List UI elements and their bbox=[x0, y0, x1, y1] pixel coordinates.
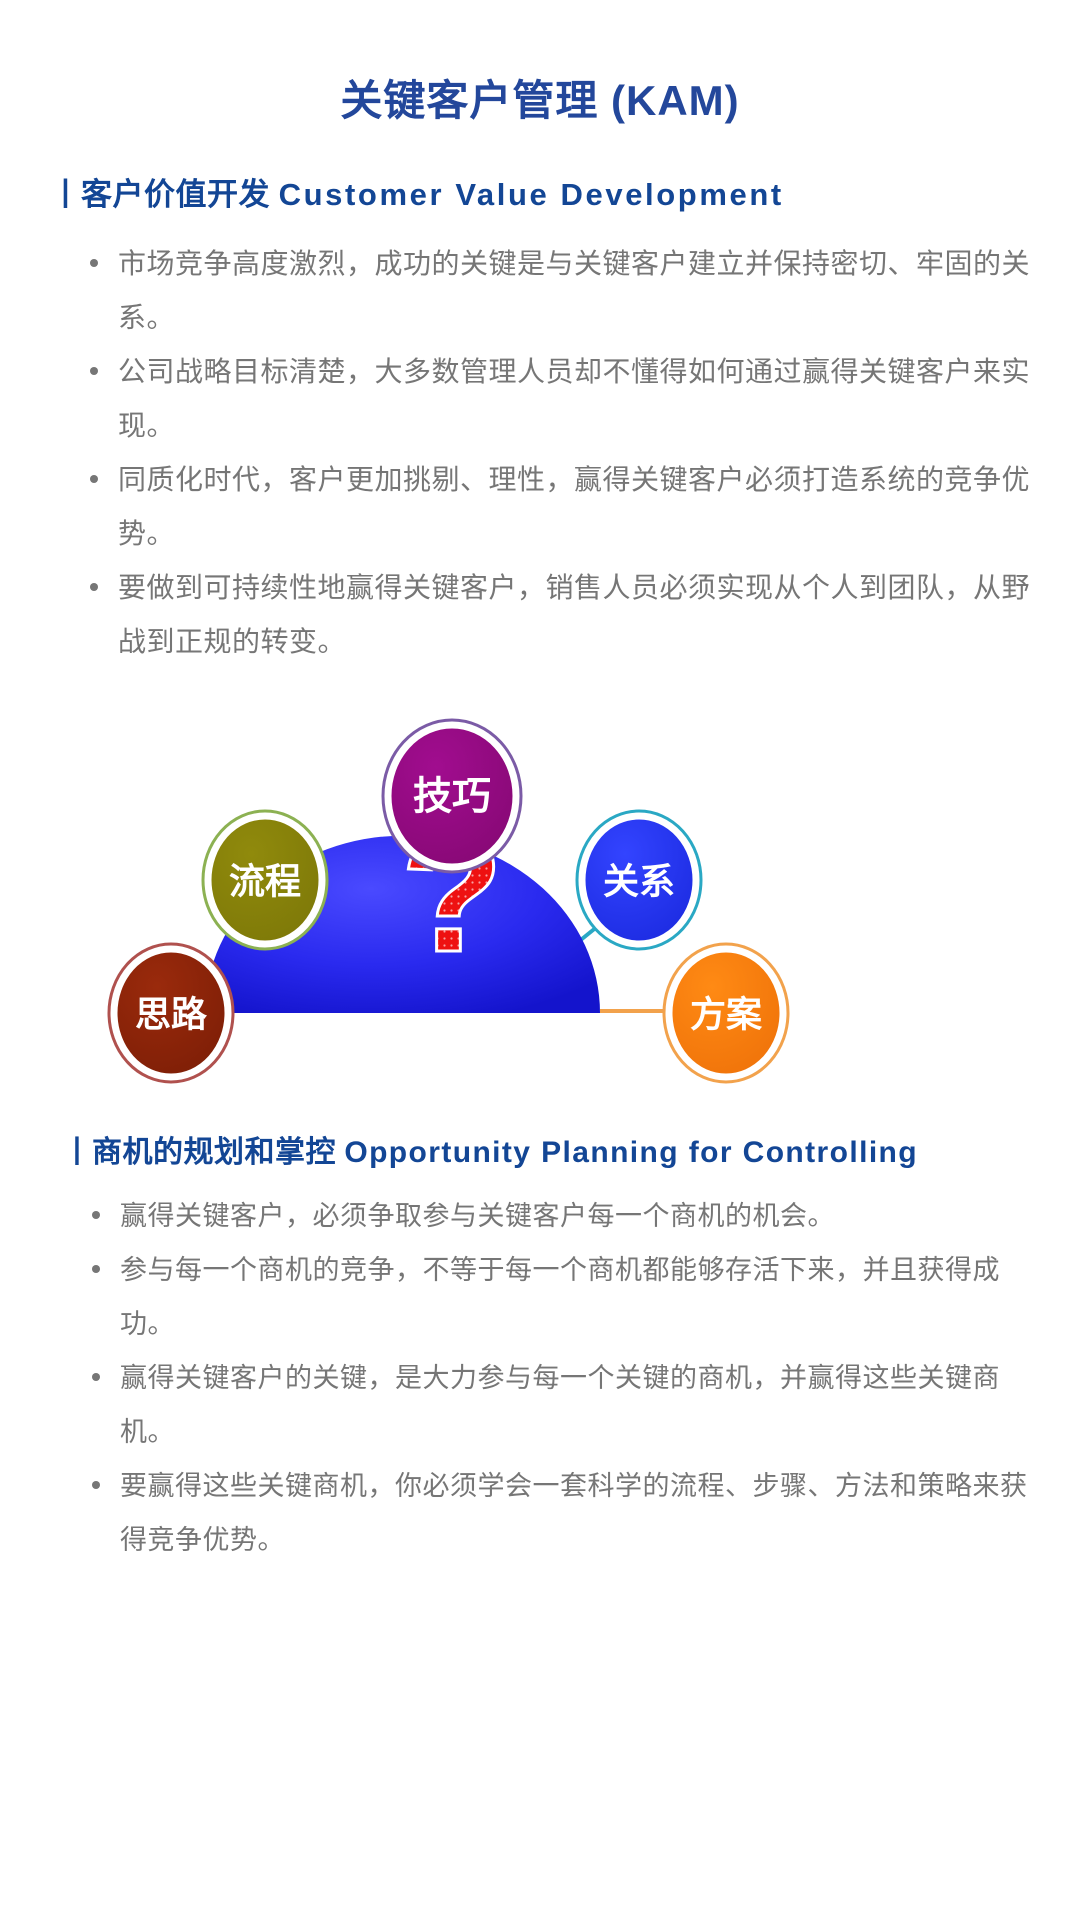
list-item-text: 赢得关键客户，必须争取参与关键客户每一个商机的机会。 bbox=[120, 1201, 835, 1231]
bullet-list-opportunity-planning: 赢得关键客户，必须争取参与关键客户每一个商机的机会。 参与每一个商机的竞争，不等… bbox=[0, 1189, 1080, 1567]
diagram-node-label: 方案 bbox=[690, 994, 763, 1035]
diagram-node-relation[interactable]: 关系 bbox=[577, 811, 701, 949]
section-heading-opportunity-planning: 丨商机的规划和掌控 Opportunity Planning for Contr… bbox=[0, 1135, 1080, 1171]
diagram-node-thought[interactable]: 思路 bbox=[109, 944, 233, 1082]
list-item: 市场竞争高度激烈，成功的关键是与关键客户建立并保持密切、牢固的关系。 bbox=[88, 237, 1030, 345]
concept-diagram: ? 技巧 流程 关系 bbox=[0, 711, 1080, 1091]
list-item: 要赢得这些关键商机，你必须学会一套科学的流程、步骤、方法和策略来获得竞争优势。 bbox=[90, 1459, 1030, 1567]
bullet-dot-icon bbox=[92, 1373, 100, 1381]
list-item: 公司战略目标清楚，大多数管理人员却不懂得如何通过赢得关键客户来实现。 bbox=[88, 345, 1030, 453]
diagram-node-plan[interactable]: 方案 bbox=[664, 944, 788, 1082]
list-item-text: 市场竞争高度激烈，成功的关键是与关键客户建立并保持密切、牢固的关系。 bbox=[118, 248, 1030, 333]
list-item-text: 要赢得这些关键商机，你必须学会一套科学的流程、步骤、方法和策略来获得竞争优势。 bbox=[120, 1471, 1028, 1555]
bullet-dot-icon bbox=[92, 1481, 100, 1489]
bullet-dot-icon bbox=[90, 367, 98, 375]
section-heading-customer-value-development: 丨客户价值开发 Customer Value Development bbox=[0, 176, 1080, 213]
list-item-text: 要做到可持续性地赢得关键客户，销售人员必须实现从个人到团队，从野战到正规的转变。 bbox=[118, 572, 1030, 657]
list-item-text: 公司战略目标清楚，大多数管理人员却不懂得如何通过赢得关键客户来实现。 bbox=[118, 356, 1030, 441]
diagram-node-label: 思路 bbox=[135, 994, 208, 1035]
bullet-list-customer-value-development: 市场竞争高度激烈，成功的关键是与关键客户建立并保持密切、牢固的关系。 公司战略目… bbox=[0, 237, 1080, 669]
heading-chinese-text: 客户价值开发 bbox=[81, 177, 270, 212]
page-title: 关键客户管理 (KAM) bbox=[0, 0, 1080, 124]
list-item: 同质化时代，客户更加挑剔、理性，赢得关键客户必须打造系统的竞争优势。 bbox=[88, 453, 1030, 561]
diagram-node-label: 流程 bbox=[229, 861, 301, 902]
bullet-dot-icon bbox=[90, 475, 98, 483]
diagram-node-process[interactable]: 流程 bbox=[203, 811, 327, 949]
heading-english-text: Customer Value Development bbox=[279, 177, 784, 212]
diagram-node-label: 技巧 bbox=[413, 776, 491, 819]
diagram-node-label: 关系 bbox=[603, 861, 675, 902]
list-item: 赢得关键客户，必须争取参与关键客户每一个商机的机会。 bbox=[90, 1189, 1030, 1243]
slide-page: 关键客户管理 (KAM) 丨客户价值开发 Customer Value Deve… bbox=[0, 0, 1080, 1920]
list-item: 参与每一个商机的竞争，不等于每一个商机都能够存活下来，并且获得成功。 bbox=[90, 1243, 1030, 1351]
bullet-dot-icon bbox=[90, 583, 98, 591]
bullet-dot-icon bbox=[92, 1265, 100, 1273]
concept-diagram-svg: ? 技巧 流程 关系 bbox=[0, 711, 1080, 1091]
list-item: 要做到可持续性地赢得关键客户，销售人员必须实现从个人到团队，从野战到正规的转变。 bbox=[88, 561, 1030, 669]
list-item-text: 同质化时代，客户更加挑剔、理性，赢得关键客户必须打造系统的竞争优势。 bbox=[118, 464, 1030, 549]
heading-bar-marker: 丨 bbox=[50, 177, 81, 212]
list-item-text: 赢得关键客户的关键，是大力参与每一个关键的商机，并赢得这些关键商机。 bbox=[120, 1363, 1000, 1447]
diagram-node-skill[interactable]: 技巧 bbox=[383, 720, 521, 872]
list-item-text: 参与每一个商机的竞争，不等于每一个商机都能够存活下来，并且获得成功。 bbox=[120, 1255, 1000, 1339]
list-item: 赢得关键客户的关键，是大力参与每一个关键的商机，并赢得这些关键商机。 bbox=[90, 1351, 1030, 1459]
bullet-dot-icon bbox=[92, 1211, 100, 1219]
heading-english-text: Opportunity Planning for Controlling bbox=[344, 1136, 918, 1169]
bullet-dot-icon bbox=[90, 259, 98, 267]
heading-chinese-text: 商机的规划和掌控 bbox=[92, 1136, 336, 1169]
heading-bar-marker: 丨 bbox=[62, 1136, 92, 1169]
